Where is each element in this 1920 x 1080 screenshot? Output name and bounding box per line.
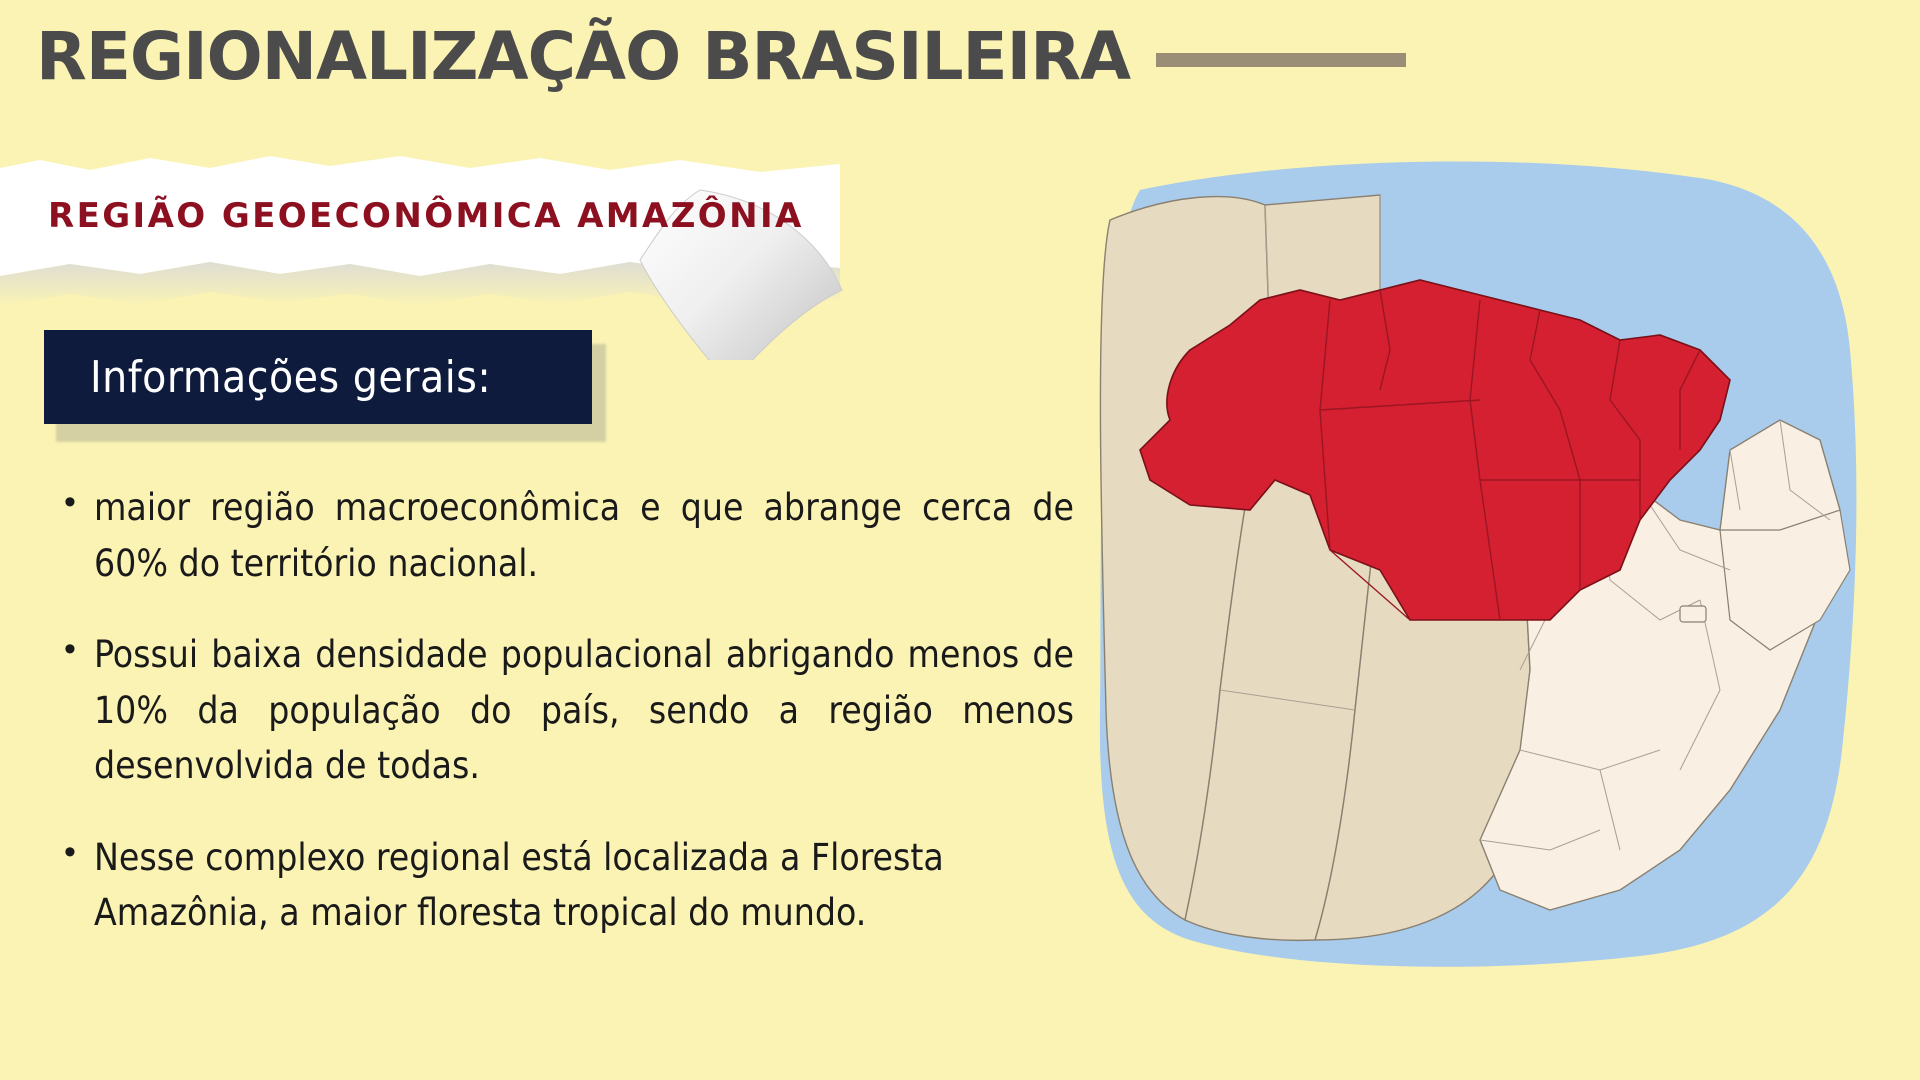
list-item: • maior região macroeconômica e que abra… bbox=[64, 480, 1074, 591]
bullet-marker: • bbox=[64, 830, 94, 941]
list-item: • Possui baixa densidade populacional ab… bbox=[64, 627, 1074, 794]
bullet-text: Possui baixa densidade populacional abri… bbox=[94, 627, 1074, 794]
federal-district-inset bbox=[1680, 606, 1706, 622]
banner-subtitle: REGIÃO GEOECONÔMICA AMAZÔNIA bbox=[48, 196, 804, 236]
info-box-label: Informações gerais: bbox=[44, 352, 491, 403]
brazil-map-amazonia-highlight bbox=[1080, 150, 1900, 980]
page-header: REGIONALIZAÇÃO BRASILEIRA bbox=[36, 22, 1920, 91]
info-box: Informações gerais: bbox=[44, 330, 592, 424]
list-item: • Nesse complexo regional está localizad… bbox=[64, 830, 1074, 941]
bullet-marker: • bbox=[64, 480, 94, 591]
bullet-text: Nesse complexo regional está localizada … bbox=[94, 830, 1074, 941]
torn-paper-banner: REGIÃO GEOECONÔMICA AMAZÔNIA bbox=[0, 150, 900, 360]
bullet-list: • maior região macroeconômica e que abra… bbox=[64, 480, 1074, 977]
title-rule-decoration bbox=[1156, 53, 1406, 67]
torn-paper-shape bbox=[0, 150, 900, 360]
page-title: REGIONALIZAÇÃO BRASILEIRA bbox=[36, 22, 1130, 91]
bullet-marker: • bbox=[64, 627, 94, 794]
map-container bbox=[1080, 150, 1900, 980]
bullet-text: maior região macroeconômica e que abrang… bbox=[94, 480, 1074, 591]
